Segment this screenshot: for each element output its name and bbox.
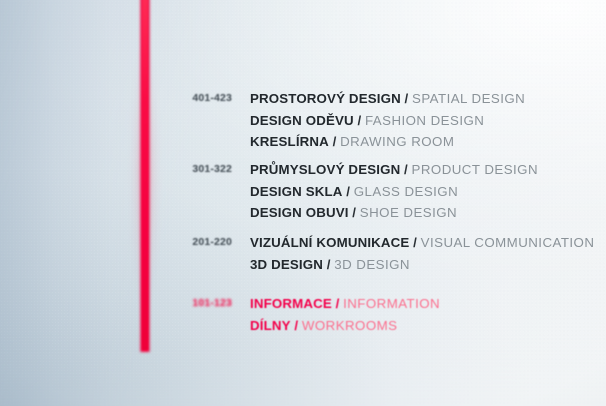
sign-photo: 401-423 PROSTOROVÝ DESIGN / SPATIAL DESI… (0, 0, 606, 406)
photo-vignette (0, 0, 606, 406)
